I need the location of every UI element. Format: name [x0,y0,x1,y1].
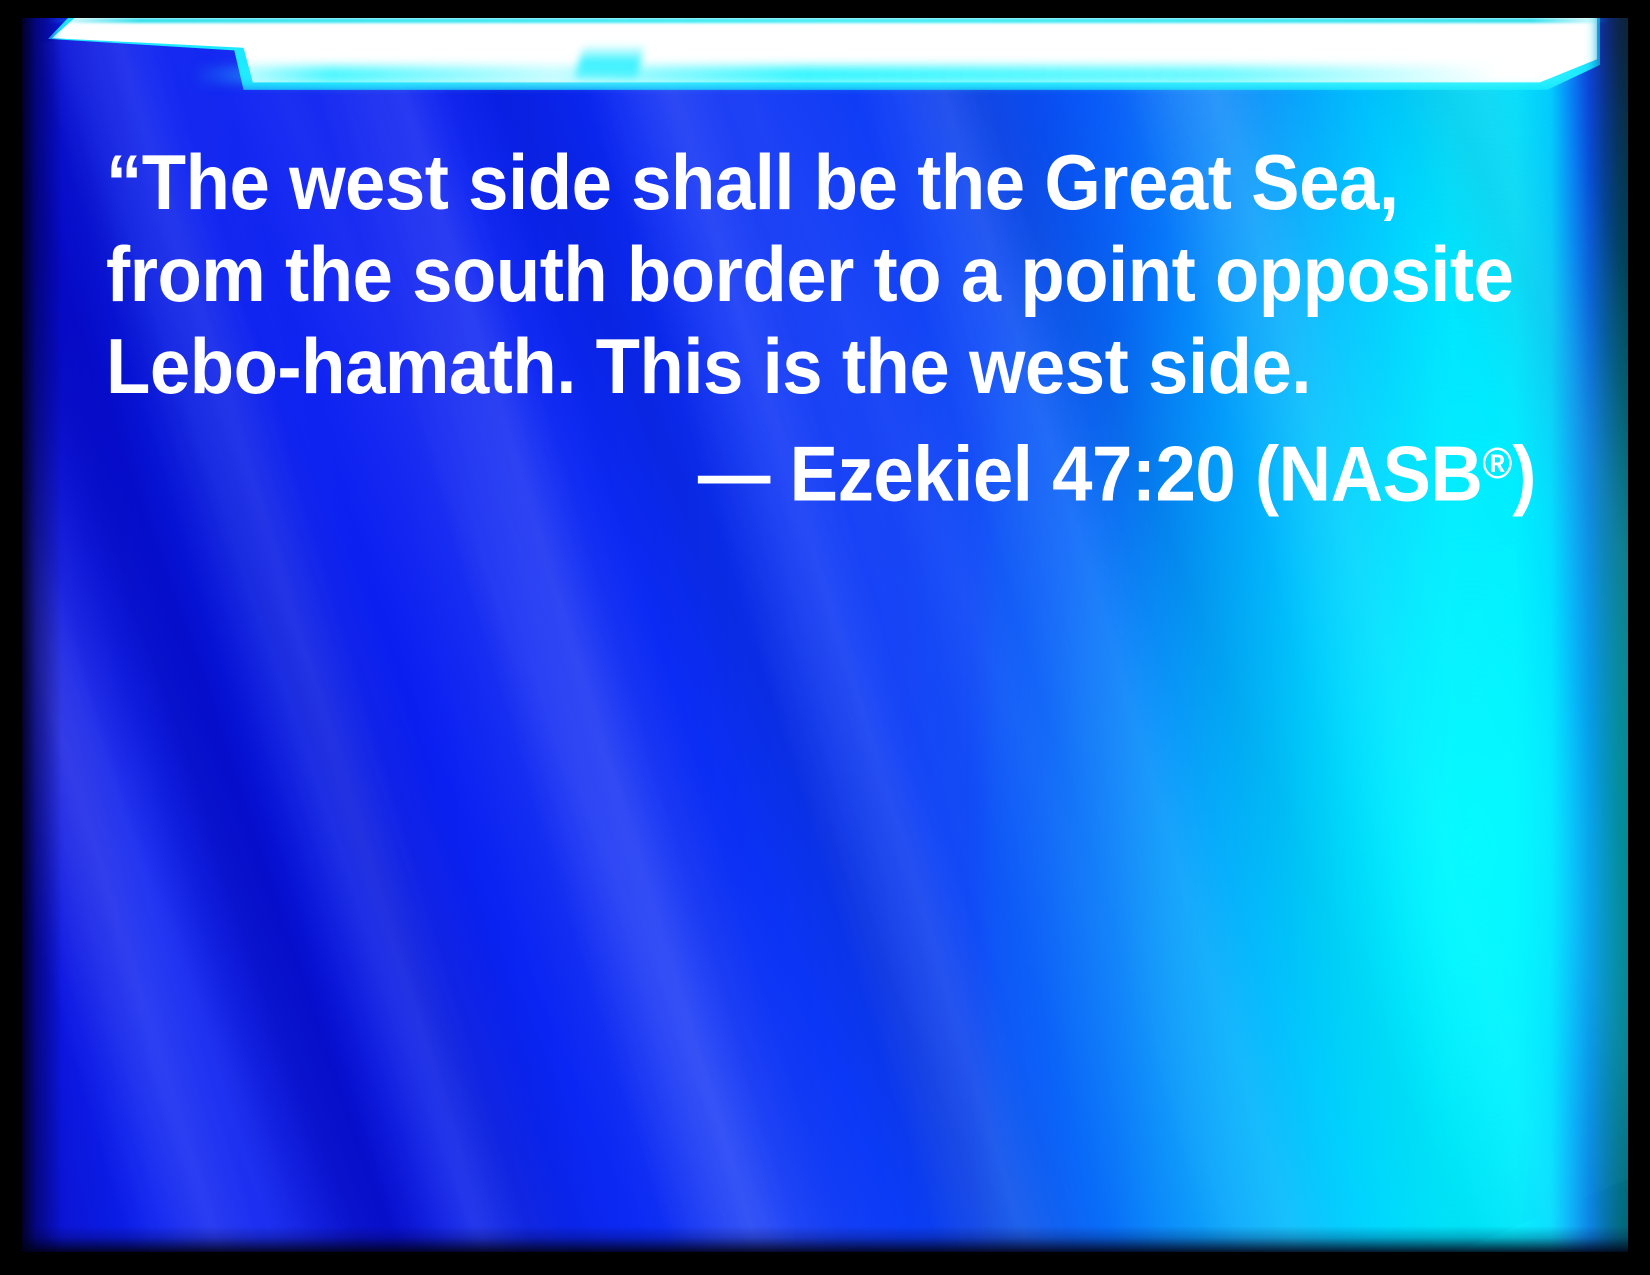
background-edge-shadow-bottom [22,1226,1628,1252]
verse-attribution: — Ezekiel 47:20 (NASB®) [206,418,1536,520]
attribution-em-dash: — [698,430,790,518]
background-edge-shadow-left [22,18,62,1252]
banner-cyan-notch [575,44,644,78]
registered-trademark-icon: ® [1482,439,1512,488]
attribution-reference: Ezekiel 47:20 [790,430,1236,518]
attribution-translation: NASB [1279,430,1483,518]
verse-text-block: “The west side shall be the Great Sea, f… [106,136,1536,520]
verse-line-3: Lebo-hamath. This is the west side. [106,320,1436,412]
verse-line-1: “The west side shall be the Great Sea, [106,136,1436,228]
attribution-open-paren: ( [1235,430,1278,518]
top-glow-banner [22,18,1628,114]
banner-inner-cyan-streak [192,66,1582,84]
verse-line-2: from the south border to a point opposit… [106,228,1436,320]
banner-top-hairline [46,18,1610,23]
slide-canvas: “The west side shall be the Great Sea, f… [22,18,1628,1252]
verse-slide: “The west side shall be the Great Sea, f… [0,0,1650,1275]
attribution-close-paren: ) [1512,430,1536,518]
